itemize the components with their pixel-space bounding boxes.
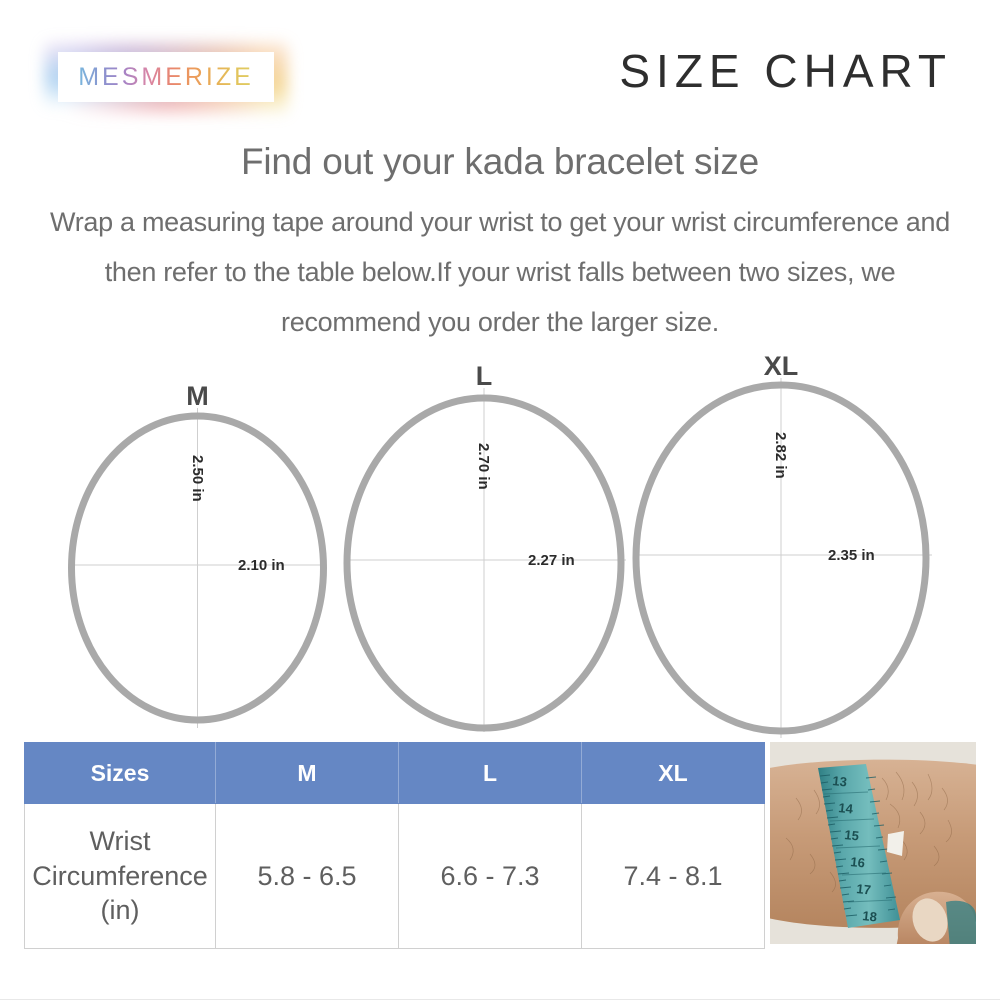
ring-height-label-M: 2.50 in — [189, 455, 206, 502]
tape-number-16: 16 — [850, 854, 866, 870]
ring-size-label-XL: XL — [764, 351, 799, 381]
ring-width-label-L: 2.27 in — [528, 552, 575, 569]
size-table: Sizes M L XL Wrist Circumference (in) 5.… — [24, 742, 765, 949]
intro-section: Find out your kada bracelet size Wrap a … — [0, 140, 1000, 347]
table-header-row: Sizes M L XL — [25, 743, 765, 804]
cell-value-l: 6.6 - 7.3 — [399, 804, 582, 949]
bottom-section: Sizes M L XL Wrist Circumference (in) 5.… — [0, 742, 1000, 947]
intro-heading: Find out your kada bracelet size — [0, 140, 1000, 184]
diagram-size-XL: XL 2.82 in 2.35 in — [634, 351, 932, 738]
ring-size-label-M: M — [186, 381, 209, 411]
wrist-measurement-photo: 13 14 15 16 17 18 — [770, 742, 976, 944]
tape-number-13: 13 — [832, 773, 848, 789]
cell-value-xl: 7.4 - 8.1 — [582, 804, 765, 949]
row-label-line-1: Wrist — [26, 824, 214, 859]
ring-width-label-M: 2.10 in — [238, 557, 285, 574]
page-header: MESMERIZE SIZE CHART — [0, 0, 1000, 130]
logo-wordmark: MESMERIZE — [78, 63, 254, 92]
tape-number-17: 17 — [856, 881, 872, 897]
bracelet-diagrams: M 2.50 in 2.10 in L 2.70 in 2.27 in XL 2… — [0, 350, 1000, 740]
table-header-xl: XL — [582, 743, 765, 804]
row-label-wrist-circumference: Wrist Circumference (in) — [25, 804, 216, 949]
row-label-line-3: (in) — [26, 893, 214, 928]
tape-number-14: 14 — [838, 800, 855, 817]
tape-number-18: 18 — [862, 908, 878, 924]
cell-value-m: 5.8 - 6.5 — [216, 804, 399, 949]
diagram-size-M: M 2.50 in 2.10 in — [68, 381, 327, 728]
table-header-l: L — [399, 743, 582, 804]
brand-logo: MESMERIZE — [44, 42, 288, 114]
diagram-canvas: M 2.50 in 2.10 in L 2.70 in 2.27 in XL 2… — [0, 350, 1000, 740]
row-label-line-2: Circumference — [26, 859, 214, 894]
logo-plate: MESMERIZE — [58, 52, 274, 102]
size-table-body: Wrist Circumference (in) 5.8 - 6.5 6.6 -… — [25, 804, 765, 949]
table-row: Wrist Circumference (in) 5.8 - 6.5 6.6 -… — [25, 804, 765, 949]
diagram-size-L: L 2.70 in 2.27 in — [344, 361, 626, 732]
tape-marker-tab — [887, 831, 904, 856]
table-header-m: M — [216, 743, 399, 804]
ring-size-label-L: L — [476, 361, 493, 391]
ring-height-label-L: 2.70 in — [475, 443, 492, 490]
size-table-head: Sizes M L XL — [25, 743, 765, 804]
wrist-photo-graphic: 13 14 15 16 17 18 — [770, 742, 976, 944]
page-title: SIZE CHART — [619, 44, 952, 98]
ring-width-label-XL: 2.35 in — [828, 547, 875, 564]
intro-body-text: Wrap a measuring tape around your wrist … — [0, 198, 1000, 348]
ring-height-label-XL: 2.82 in — [772, 432, 789, 479]
tape-tail — [946, 901, 976, 944]
table-header-sizes: Sizes — [25, 743, 216, 804]
tape-number-15: 15 — [844, 827, 860, 843]
